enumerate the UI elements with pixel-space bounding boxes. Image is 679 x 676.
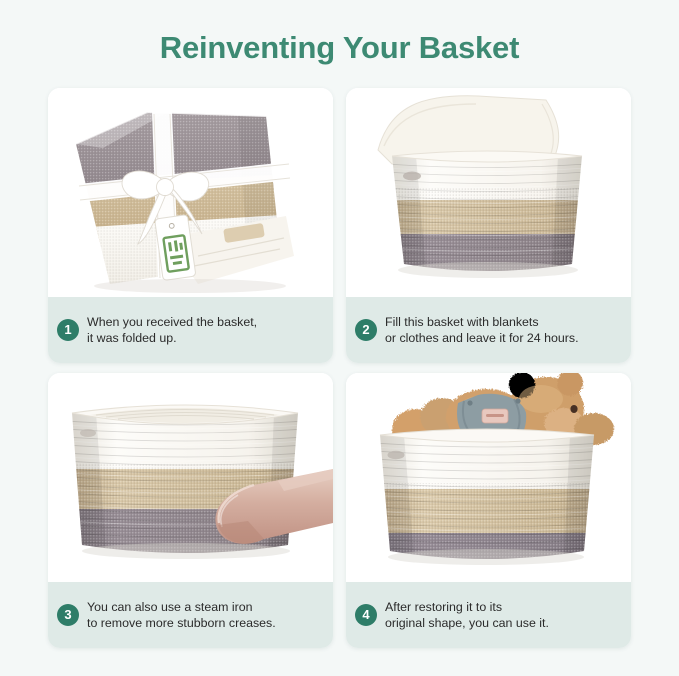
folded-basket-with-ribbon-photo (48, 88, 333, 297)
step-number-badge: 4 (355, 604, 377, 626)
step-number-badge: 1 (57, 319, 79, 341)
step-card-4[interactable]: 4 After restoring it to its original sha… (346, 373, 631, 648)
step-caption-2: 2 Fill this basket with blankets or clot… (346, 297, 631, 363)
step-caption-4: 4 After restoring it to its original sha… (346, 582, 631, 648)
step-caption-1: 1 When you received the basket, it was f… (48, 297, 333, 363)
basket-with-teddy-bear-photo (346, 373, 631, 582)
basket-with-steam-iron-photo (48, 373, 333, 582)
steps-grid: 1 When you received the basket, it was f… (48, 88, 631, 648)
step-card-2[interactable]: 2 Fill this basket with blankets or clot… (346, 88, 631, 363)
step-card-1[interactable]: 1 When you received the basket, it was f… (48, 88, 333, 363)
step-number-badge: 2 (355, 319, 377, 341)
basket-with-pillow-photo (346, 88, 631, 297)
page-title: Reinventing Your Basket (0, 28, 679, 68)
step-caption-3: 3 You can also use a steam iron to remov… (48, 582, 333, 648)
step-number-badge: 3 (57, 604, 79, 626)
step-caption-text: After restoring it to its original shape… (385, 599, 549, 632)
step-caption-text: You can also use a steam iron to remove … (87, 599, 276, 632)
step-caption-text: Fill this basket with blankets or clothe… (385, 314, 579, 347)
step-card-3[interactable]: 3 You can also use a steam iron to remov… (48, 373, 333, 648)
step-caption-text: When you received the basket, it was fol… (87, 314, 257, 347)
